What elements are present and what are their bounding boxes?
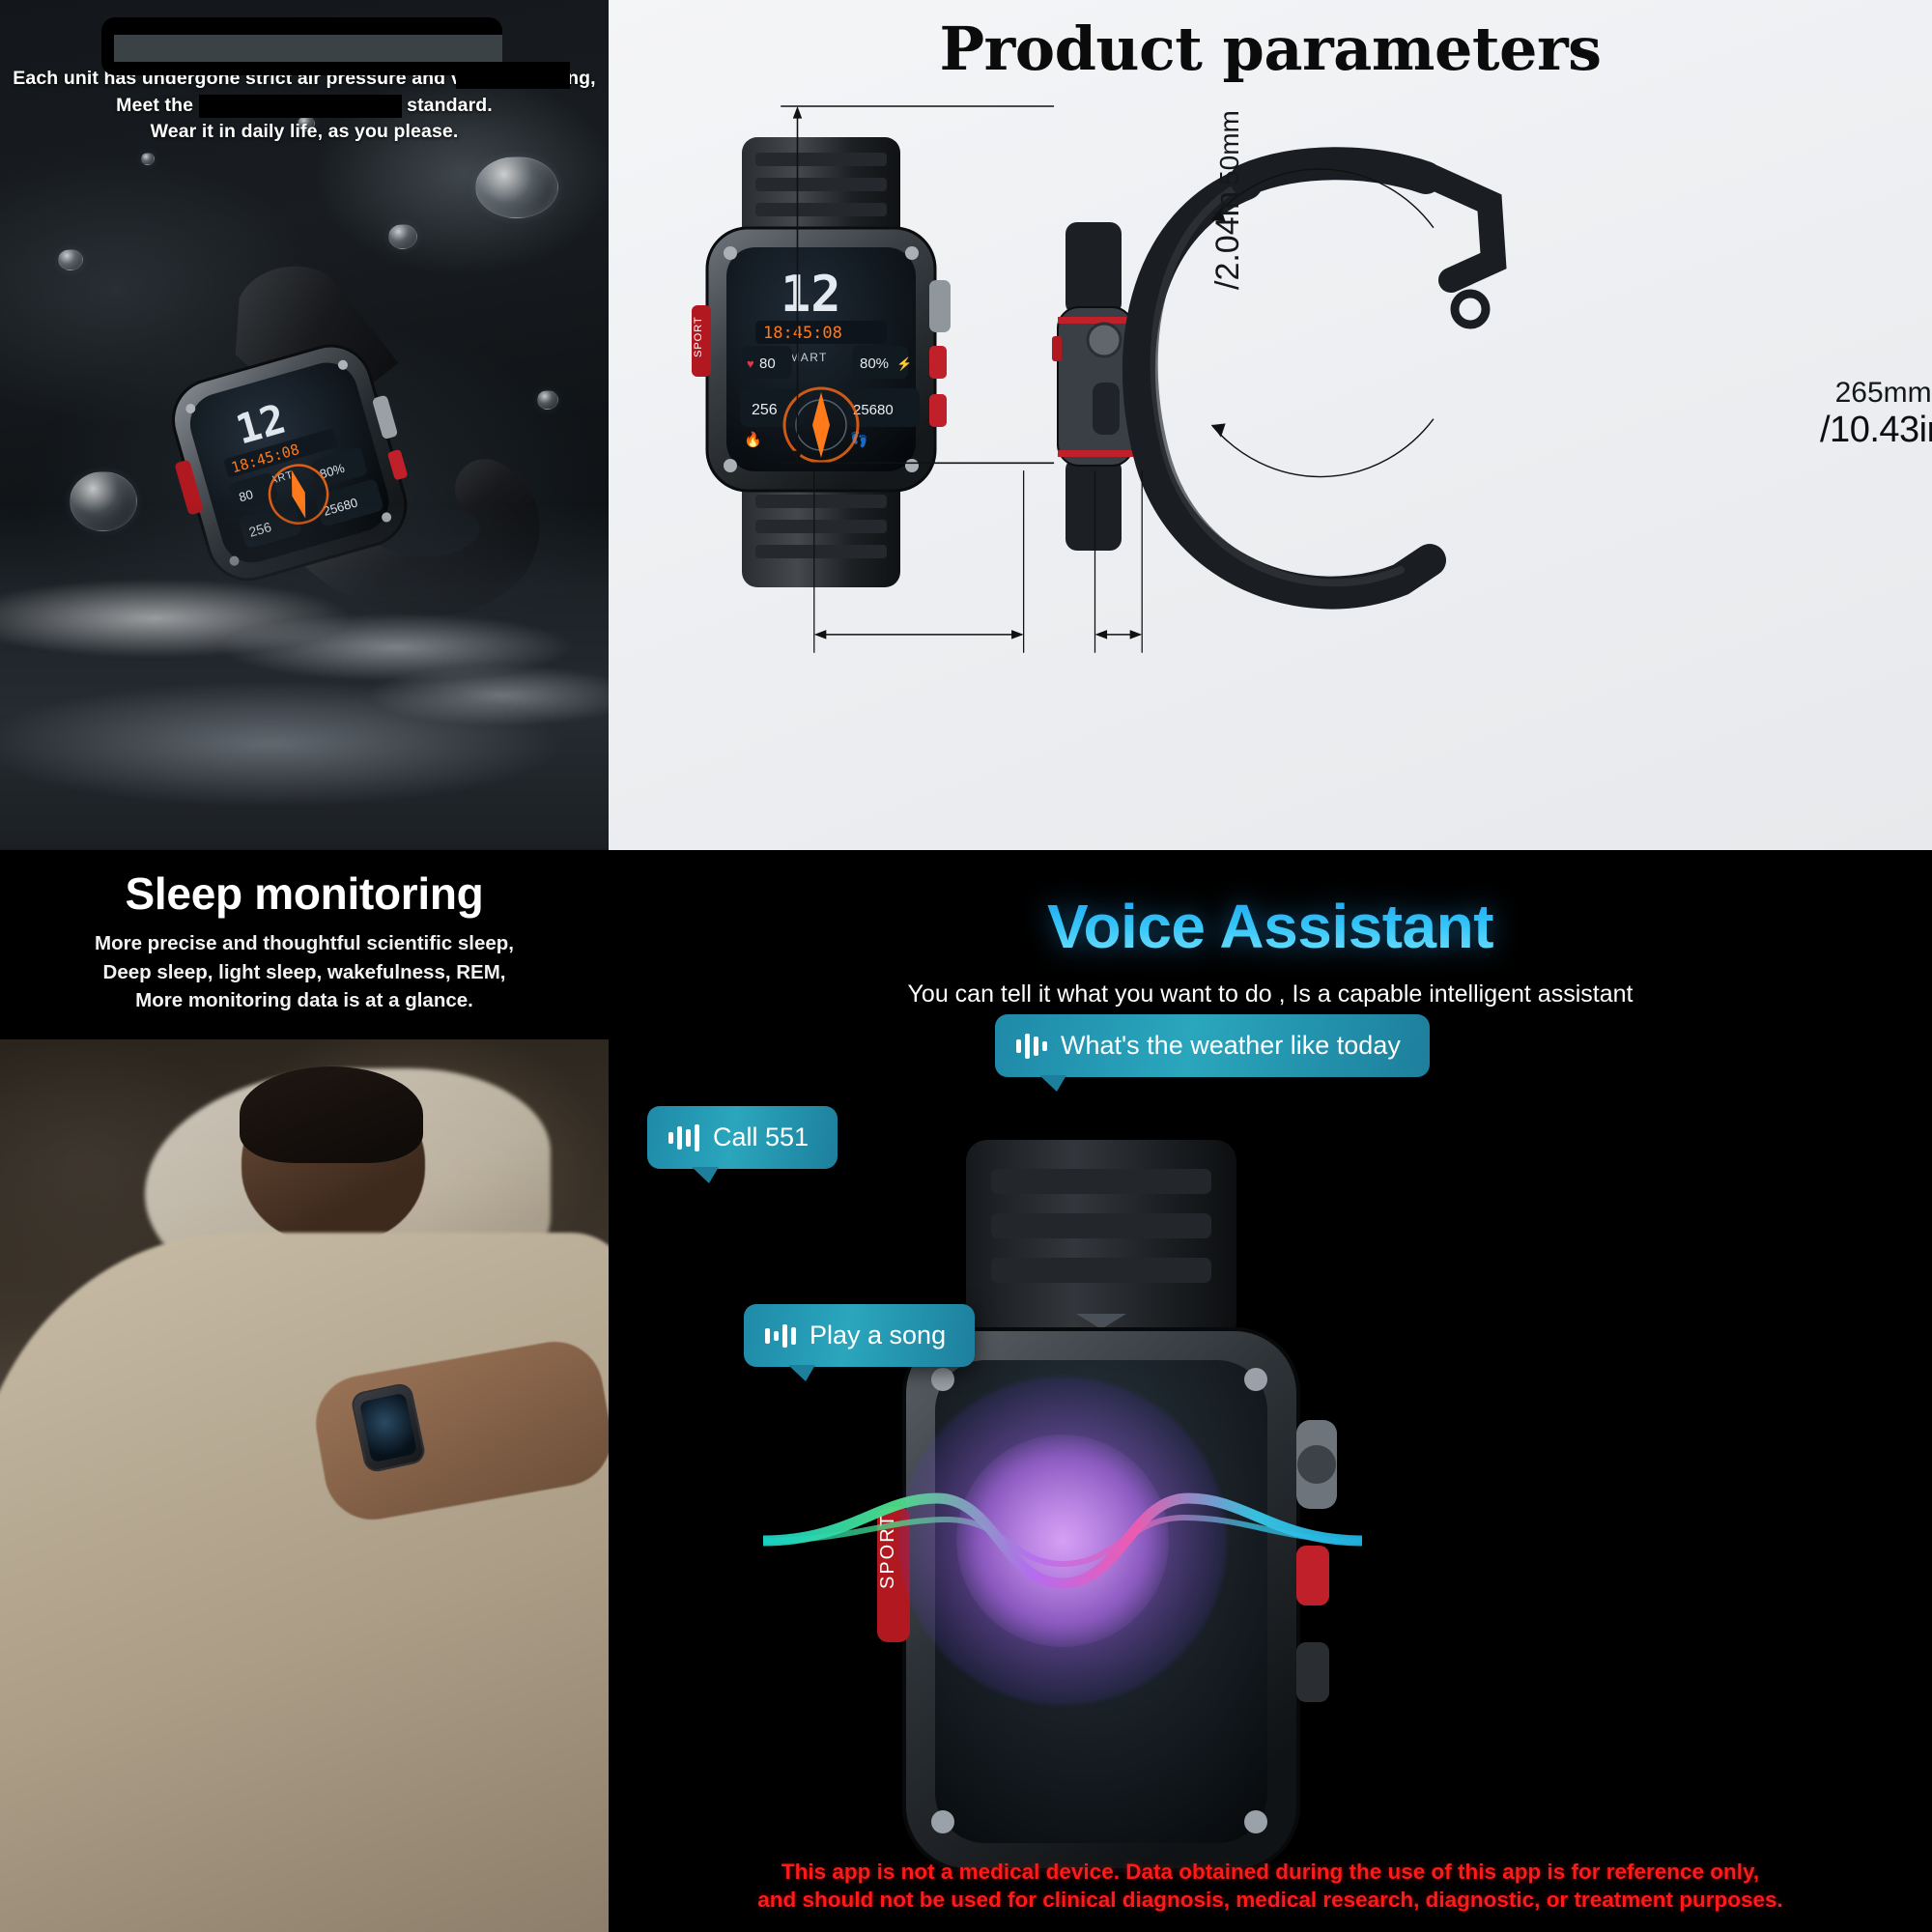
person-hair bbox=[240, 1066, 423, 1163]
waterproof-line-3: Wear it in daily life, as you please. bbox=[0, 119, 609, 146]
sleep-sub-line-1: More precise and thoughtful scientific s… bbox=[0, 929, 609, 958]
sleep-sub-line-3: More monitoring data is at a glance. bbox=[0, 986, 609, 1015]
voice-wave-icon bbox=[1016, 1032, 1047, 1061]
redaction-box-logo bbox=[101, 17, 502, 75]
voice-command-text: What's the weather like today bbox=[1061, 1031, 1401, 1061]
voice-command-text: Play a song bbox=[810, 1321, 946, 1350]
height-mm: 50mm bbox=[1214, 110, 1245, 185]
svg-text:256: 256 bbox=[752, 402, 778, 418]
bubble-decor bbox=[475, 156, 558, 218]
strap-inches: /10.43in bbox=[1820, 410, 1932, 451]
strap-mm: 265mm bbox=[1820, 377, 1932, 410]
svg-text:🔥: 🔥 bbox=[744, 431, 762, 448]
redaction-box-top-right bbox=[456, 62, 570, 89]
waterproof-line-2-suffix: standard. bbox=[407, 95, 493, 116]
page-title: Product parameters bbox=[609, 14, 1932, 84]
redaction-inline-standard bbox=[199, 95, 402, 118]
dimension-height: /2.04in 50mm bbox=[1209, 110, 1247, 290]
water-splash bbox=[0, 502, 609, 850]
svg-text:18:45:08: 18:45:08 bbox=[763, 324, 842, 343]
siri-waveform bbox=[763, 1483, 1362, 1599]
voice-command-bubble[interactable]: Play a song bbox=[744, 1304, 975, 1367]
bubble-decor bbox=[58, 249, 83, 270]
product-infographic: 12 18:45:08 SMART 80 80% 256 25680 Each bbox=[0, 0, 1932, 1932]
svg-text:80%: 80% bbox=[860, 355, 889, 372]
blanket bbox=[0, 1233, 609, 1932]
svg-text:SPORT: SPORT bbox=[693, 316, 704, 357]
voice-command-bubble[interactable]: What's the weather like today bbox=[995, 1014, 1430, 1077]
voice-wave-icon bbox=[765, 1321, 796, 1350]
bubble-decor bbox=[537, 390, 558, 410]
svg-text:♥: ♥ bbox=[747, 356, 754, 371]
disclaimer-line-2: and should not be used for clinical diag… bbox=[609, 1886, 1932, 1915]
waterproof-line-2-prefix: Meet the bbox=[116, 95, 193, 116]
watch-front-view: SPORT 12 18:45:08 SMART 80 ♥ 80% ⚡ 256 2… bbox=[667, 135, 976, 589]
bubble-decor bbox=[141, 153, 155, 165]
dimension-strap: 265mm /10.43in bbox=[1820, 377, 1932, 450]
voice-subtitle: You can tell it what you want to do , Is… bbox=[609, 980, 1932, 1009]
svg-text:25680: 25680 bbox=[853, 402, 894, 418]
sleeping-person-photo bbox=[0, 1039, 609, 1932]
sleep-title: Sleep monitoring bbox=[0, 867, 609, 920]
svg-text:80: 80 bbox=[759, 355, 776, 372]
svg-text:⚡: ⚡ bbox=[896, 356, 912, 372]
panel-voice-assistant: Voice Assistant You can tell it what you… bbox=[609, 850, 1932, 1932]
svg-text:12: 12 bbox=[781, 266, 841, 324]
panel-product-parameters: Product parameters bbox=[609, 0, 1932, 850]
watch-strap-loop bbox=[1111, 145, 1517, 628]
voice-title: Voice Assistant bbox=[609, 891, 1932, 962]
height-inches: /2.04in bbox=[1209, 191, 1247, 290]
voice-command-bubble[interactable]: Call 551 bbox=[647, 1106, 838, 1169]
medical-disclaimer: This app is not a medical device. Data o… bbox=[609, 1858, 1932, 1915]
sleep-sub-line-2: Deep sleep, light sleep, wakefulness, RE… bbox=[0, 958, 609, 987]
disclaimer-line-1: This app is not a medical device. Data o… bbox=[609, 1858, 1932, 1887]
waterproof-line-2: Meet the standard. bbox=[0, 93, 609, 120]
panel-sleep-monitoring: Sleep monitoring More precise and though… bbox=[0, 850, 609, 1932]
sleep-subtitle: More precise and thoughtful scientific s… bbox=[0, 929, 609, 1015]
voice-command-text: Call 551 bbox=[713, 1122, 809, 1152]
voice-wave-icon bbox=[668, 1123, 699, 1152]
panel-waterproof: 12 18:45:08 SMART 80 80% 256 25680 Each bbox=[0, 0, 609, 850]
